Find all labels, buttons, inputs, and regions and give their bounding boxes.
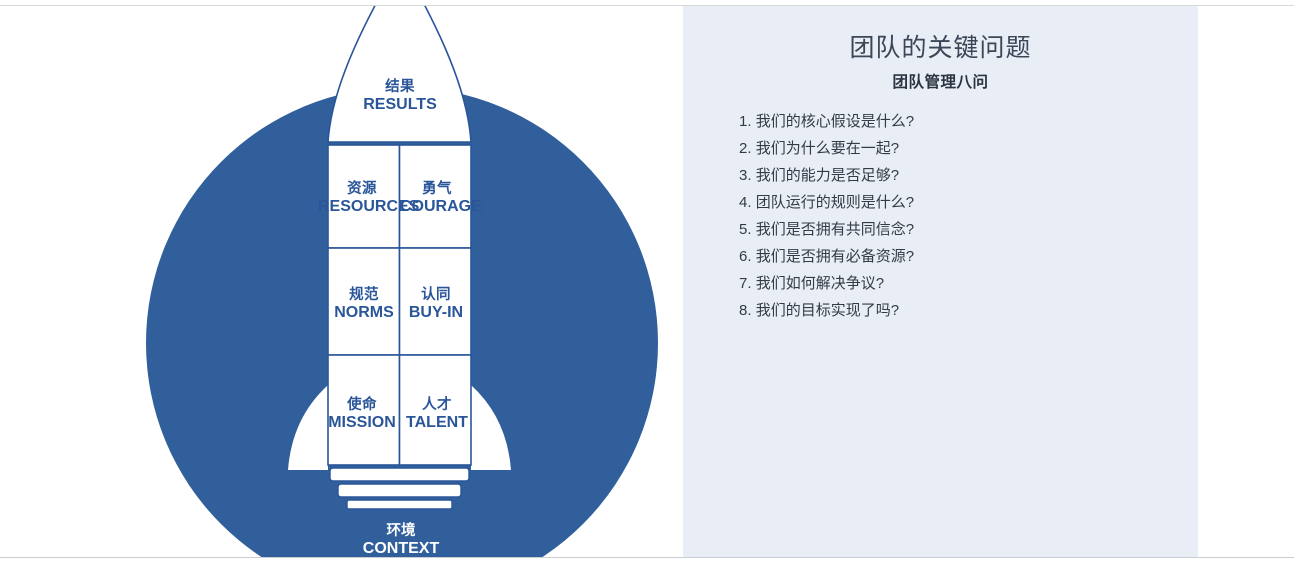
list-item-text: 我们的核心假设是什么? xyxy=(756,114,914,129)
list-item-text: 我们的能力是否足够? xyxy=(756,168,899,183)
list-item: 2. 我们为什么要在一起? xyxy=(739,141,1179,168)
list-item-text: 我们如何解决争议? xyxy=(756,276,884,291)
rocket-nozzle-bar-1 xyxy=(330,468,469,481)
rocket-nozzle-bar-2 xyxy=(338,484,461,497)
list-item: 6. 我们是否拥有必备资源? xyxy=(739,249,1179,276)
questions-list: 1. 我们的核心假设是什么? 2. 我们为什么要在一起? 3. 我们的能力是否足… xyxy=(739,114,1179,330)
list-item: 3. 我们的能力是否足够? xyxy=(739,168,1179,195)
rocket-diagram-graphic xyxy=(0,6,683,557)
list-item-number: 7. xyxy=(739,276,752,291)
list-item-text: 我们的目标实现了吗? xyxy=(756,303,899,318)
cell-rect-talent xyxy=(400,355,472,465)
list-item: 5. 我们是否拥有共同信念? xyxy=(739,222,1179,249)
list-item-text: 我们是否拥有共同信念? xyxy=(756,222,914,237)
page-title: 团队的关键问题 xyxy=(683,28,1198,64)
list-item-text: 我们为什么要在一起? xyxy=(756,141,899,156)
rocket-nose-cone xyxy=(328,6,471,142)
list-item-number: 3. xyxy=(739,168,752,183)
cell-rect-mission xyxy=(328,355,400,465)
questions-panel: 团队的关键问题 团队管理八问 1. 我们的核心假设是什么? 2. 我们为什么要在… xyxy=(683,6,1198,557)
list-item-number: 5. xyxy=(739,222,752,237)
list-item: 4. 团队运行的规则是什么? xyxy=(739,195,1179,222)
list-item-number: 2. xyxy=(739,141,752,156)
cell-rect-buyin xyxy=(400,248,472,355)
list-item-number: 8. xyxy=(739,303,752,318)
list-item-number: 4. xyxy=(739,195,752,210)
list-item-number: 1. xyxy=(739,114,752,129)
right-margin-area xyxy=(1198,6,1294,557)
bottom-divider-rule xyxy=(0,557,1294,558)
list-item: 8. 我们的目标实现了吗? xyxy=(739,303,1179,330)
list-item-text: 我们是否拥有必备资源? xyxy=(756,249,914,264)
slide-page: 结果 RESULTS 资源 RESOURCES 勇气 COURAGE 规范 NO… xyxy=(0,0,1294,564)
cell-rect-courage xyxy=(400,145,472,248)
list-item-number: 6. xyxy=(739,249,752,264)
cell-rect-norms xyxy=(328,248,400,355)
rocket-diagram-panel: 结果 RESULTS 资源 RESOURCES 勇气 COURAGE 规范 NO… xyxy=(0,6,683,557)
page-subtitle: 团队管理八问 xyxy=(683,70,1198,92)
cell-rect-resources xyxy=(328,145,400,248)
list-item: 1. 我们的核心假设是什么? xyxy=(739,114,1179,141)
list-item: 7. 我们如何解决争议? xyxy=(739,276,1179,303)
list-item-text: 团队运行的规则是什么? xyxy=(756,195,914,210)
rocket-nozzle-bar-3 xyxy=(347,500,452,509)
